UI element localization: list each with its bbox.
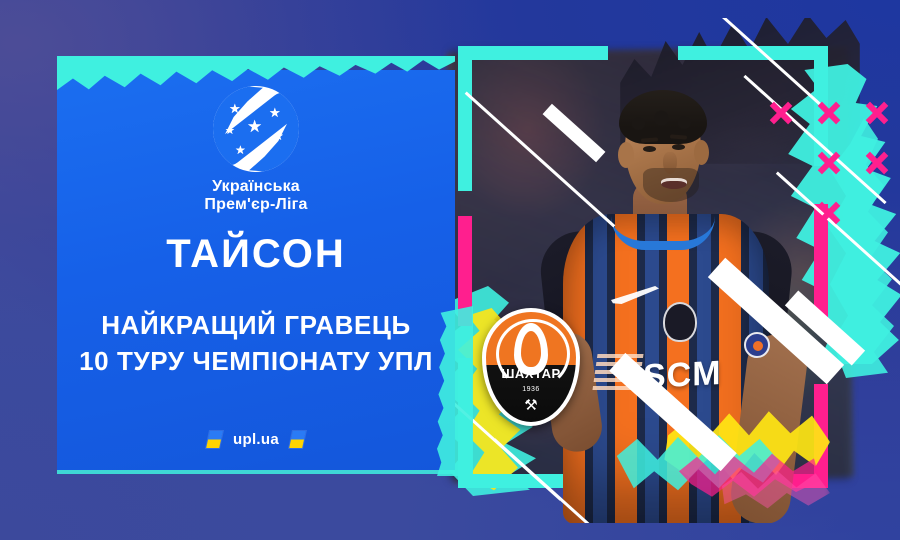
ukraine-flag-icon <box>206 431 223 448</box>
cyan-panel-top-edge-splatter <box>57 56 455 90</box>
upl-league-logo: ★ ★ ★ ★ ★ ★ ★ ★ Українська Прем'єр-Ліга <box>57 86 455 214</box>
promo-graphic-canvas: SCM ШАХТАР 1936 ⚒ <box>0 0 900 540</box>
league-name-line-1: Українська <box>57 178 455 196</box>
crest-flame-inner <box>521 331 541 367</box>
shakhtar-shield-icon <box>663 302 697 342</box>
ball-star-icon: ★ <box>247 118 262 135</box>
pink-x-mark-icon <box>816 150 842 176</box>
crossed-hammers-icon: ⚒ <box>520 396 542 416</box>
award-headline-line-2: 10 ТУРУ ЧЕМПІОНАТУ УПЛ <box>57 346 455 377</box>
player-mouth <box>661 178 687 189</box>
player-nose <box>663 152 677 174</box>
cyan-frame-top-right-horizontal <box>678 46 828 60</box>
cyan-frame-top-left-horizontal <box>458 46 608 60</box>
cyan-panel-bottom-line <box>57 470 455 474</box>
player-hair <box>619 90 707 144</box>
football-ball-with-stars-icon: ★ ★ ★ ★ ★ ★ ★ ★ <box>213 86 299 172</box>
player-head <box>617 90 709 208</box>
site-url-row[interactable]: upl.ua <box>57 431 455 448</box>
player-right-ear <box>694 140 709 165</box>
pink-x-mark-icon <box>864 150 890 176</box>
pink-x-mark-icon <box>816 200 842 226</box>
league-name-line-2: Прем'єр-Ліга <box>57 196 455 214</box>
ball-star-icon: ★ <box>273 130 284 142</box>
player-right-eye <box>672 144 685 150</box>
player-photo-collage: SCM ШАХТАР 1936 ⚒ <box>420 18 900 523</box>
ball-star-icon: ★ <box>269 106 281 119</box>
site-url-text[interactable]: upl.ua <box>233 431 279 448</box>
ball-star-icon: ★ <box>257 146 267 157</box>
pink-x-marks-group <box>750 78 900 258</box>
award-headline-line-1: НАЙКРАЩИЙ ГРАВЕЦЬ <box>57 310 455 341</box>
award-headline: НАЙКРАЩИЙ ГРАВЕЦЬ 10 ТУРУ ЧЕМПІОНАТУ УПЛ <box>57 310 455 377</box>
player-name-title: ТАЙСОН <box>57 232 455 277</box>
pink-frame-bottom-right-vertical <box>814 384 828 488</box>
uefa-respect-badge-icon <box>744 332 770 358</box>
player-left-ear <box>618 142 634 168</box>
ball-star-icon: ★ <box>249 96 259 107</box>
ball-star-icon: ★ <box>229 102 241 115</box>
ball-star-icon: ★ <box>235 144 246 156</box>
player-left-eye <box>643 146 656 152</box>
pink-x-mark-icon <box>864 100 890 126</box>
cyan-frame-top-left-vertical <box>458 46 472 191</box>
info-panel: ★ ★ ★ ★ ★ ★ ★ ★ Українська Прем'єр-Ліга … <box>57 70 455 470</box>
ukraine-flag-icon <box>289 431 306 448</box>
crest-club-name: ШАХТАР <box>486 366 576 381</box>
crest-founding-year: 1936 <box>486 386 576 393</box>
ball-star-icon: ★ <box>225 126 235 137</box>
pink-x-mark-icon <box>768 100 794 126</box>
pink-x-mark-icon <box>816 100 842 126</box>
